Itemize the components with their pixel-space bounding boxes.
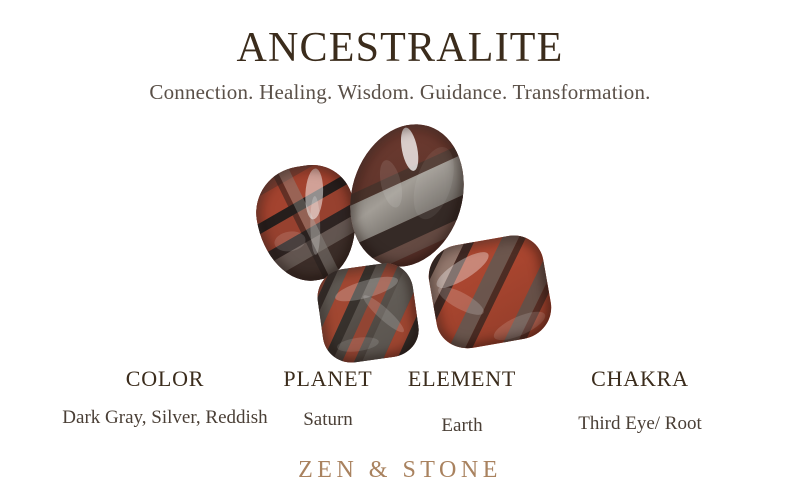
attribute-chakra-label: CHAKRA (536, 366, 744, 391)
stone-center-banding (314, 260, 422, 366)
attribute-color-value: Dark Gray, Silver, Reddish (62, 405, 268, 430)
stone-center (314, 260, 422, 366)
attribute-planet-value: Saturn (268, 407, 388, 432)
gemstone-info-card: ANCESTRALITE Connection. Healing. Wisdom… (0, 0, 800, 500)
stone-photo-group (0, 118, 800, 368)
attribute-planet-label: PLANET (268, 366, 388, 391)
attribute-planet: PLANET Saturn (268, 366, 388, 432)
attribute-color: COLOR Dark Gray, Silver, Reddish (62, 366, 268, 430)
attributes-row: COLOR Dark Gray, Silver, Reddish PLANET … (0, 366, 800, 438)
brand-logo: ZEN & STONE (0, 457, 800, 484)
page-subtitle: Connection. Healing. Wisdom. Guidance. T… (0, 71, 800, 105)
attribute-color-label: COLOR (62, 366, 268, 391)
page-title: ANCESTRALITE (0, 0, 800, 71)
attribute-element-label: ELEMENT (388, 366, 536, 391)
stone-right-banding (424, 231, 556, 354)
attribute-element-value: Earth (388, 413, 536, 438)
attribute-chakra-value: Third Eye/ Root (536, 411, 744, 436)
attribute-chakra: CHAKRA Third Eye/ Root (536, 366, 744, 436)
card-header: ANCESTRALITE Connection. Healing. Wisdom… (0, 0, 800, 106)
attribute-element: ELEMENT Earth (388, 366, 536, 438)
stone-right (424, 231, 556, 354)
